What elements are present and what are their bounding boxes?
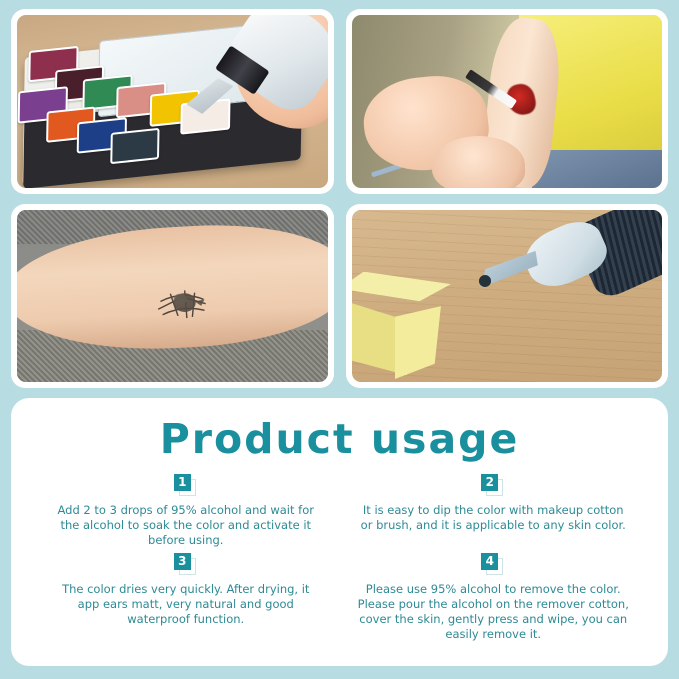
- product-usage-infographic: { "theme": { "background": "#b7dde2", "c…: [0, 0, 679, 679]
- usage-step-3: 3 The color dries very quickly. After dr…: [35, 553, 337, 643]
- step-badge-1: 1: [174, 474, 198, 496]
- photo-wound-makeup-arm: [352, 15, 663, 188]
- step-number-1: 1: [174, 474, 191, 491]
- photo-card-palette-dropper: [11, 9, 334, 194]
- photo-palette-dropper: [17, 15, 328, 188]
- step-badge-2: 2: [481, 474, 505, 496]
- tattoo-artwork: [141, 275, 222, 330]
- page-title: Product usage: [11, 398, 668, 460]
- product-usage-card: Product usage 1 Add 2 to 3 drops of 95% …: [11, 398, 668, 666]
- step-text-3: The color dries very quickly. After dryi…: [35, 582, 337, 628]
- step-number-4: 4: [481, 553, 498, 570]
- tattoo-svg: [141, 275, 222, 330]
- usage-step-1: 1 Add 2 to 3 drops of 95% alcohol and wa…: [35, 474, 337, 549]
- usage-step-2: 2 It is easy to dip the color with makeu…: [343, 474, 645, 549]
- photo-card-wound-makeup-arm: [346, 9, 669, 194]
- step-number-3: 3: [174, 553, 191, 570]
- step-text-2: It is easy to dip the color with makeup …: [343, 503, 645, 533]
- jeans: [532, 150, 662, 188]
- step-number-2: 2: [481, 474, 498, 491]
- usage-step-4: 4 Please use 95% alcohol to remove the c…: [343, 553, 645, 643]
- step-text-1: Add 2 to 3 drops of 95% alcohol and wait…: [35, 503, 337, 549]
- paint-pan-slate: [110, 128, 160, 165]
- step-badge-3: 3: [174, 553, 198, 575]
- step-badge-4: 4: [481, 553, 505, 575]
- photo-grid: [11, 9, 668, 388]
- photo-sponge-and-bottle: [352, 210, 663, 383]
- photo-card-sponge-and-bottle: [346, 204, 669, 389]
- usage-steps: 1 Add 2 to 3 drops of 95% alcohol and wa…: [11, 460, 668, 642]
- photo-card-tattoo-on-skin: [11, 204, 334, 389]
- photo-tattoo-on-skin: [17, 210, 328, 383]
- step-text-4: Please use 95% alcohol to remove the col…: [343, 582, 645, 643]
